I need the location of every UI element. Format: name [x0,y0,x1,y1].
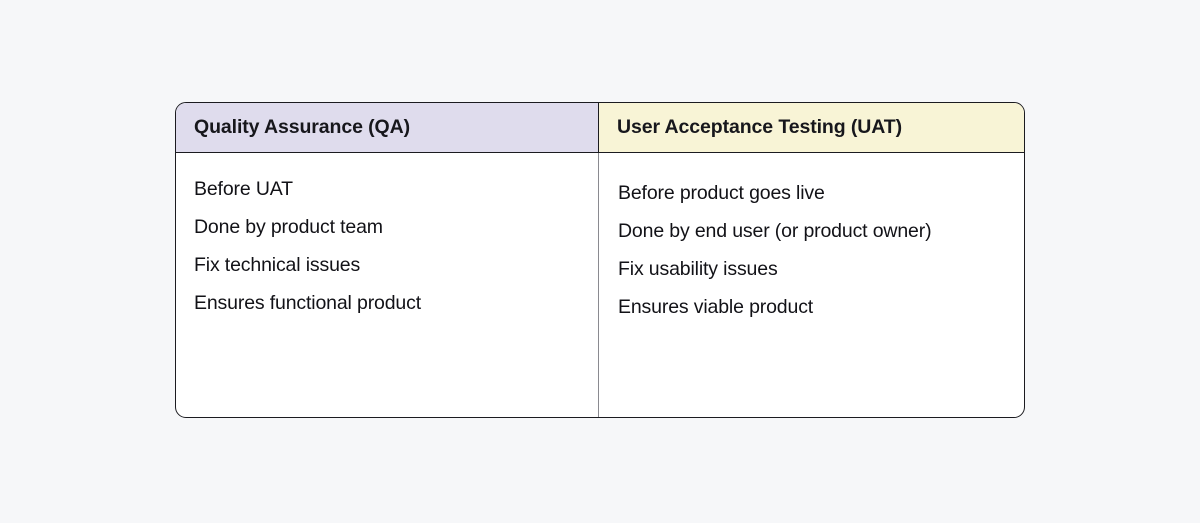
table-header-row: Quality Assurance (QA) User Acceptance T… [176,103,1024,153]
list-item: Before UAT [194,170,580,208]
uat-item-list: Before product goes live Done by end use… [618,174,1006,326]
list-item: Fix technical issues [194,246,580,284]
list-item: Before product goes live [618,174,1006,212]
qa-item-list: Before UAT Done by product team Fix tech… [194,170,580,322]
page-canvas: Quality Assurance (QA) User Acceptance T… [0,0,1200,523]
list-item: Done by end user (or product owner) [618,212,1006,250]
column-header-qa: Quality Assurance (QA) [176,103,599,152]
list-item: Done by product team [194,208,580,246]
qa-vs-uat-comparison-table: Quality Assurance (QA) User Acceptance T… [175,102,1025,418]
list-item: Fix usability issues [618,250,1006,288]
column-body-qa: Before UAT Done by product team Fix tech… [176,153,599,417]
column-body-uat: Before product goes live Done by end use… [599,153,1024,417]
column-header-uat: User Acceptance Testing (UAT) [599,103,1024,152]
list-item: Ensures viable product [618,288,1006,326]
table-body-row: Before UAT Done by product team Fix tech… [176,153,1024,417]
list-item: Ensures functional product [194,284,580,322]
